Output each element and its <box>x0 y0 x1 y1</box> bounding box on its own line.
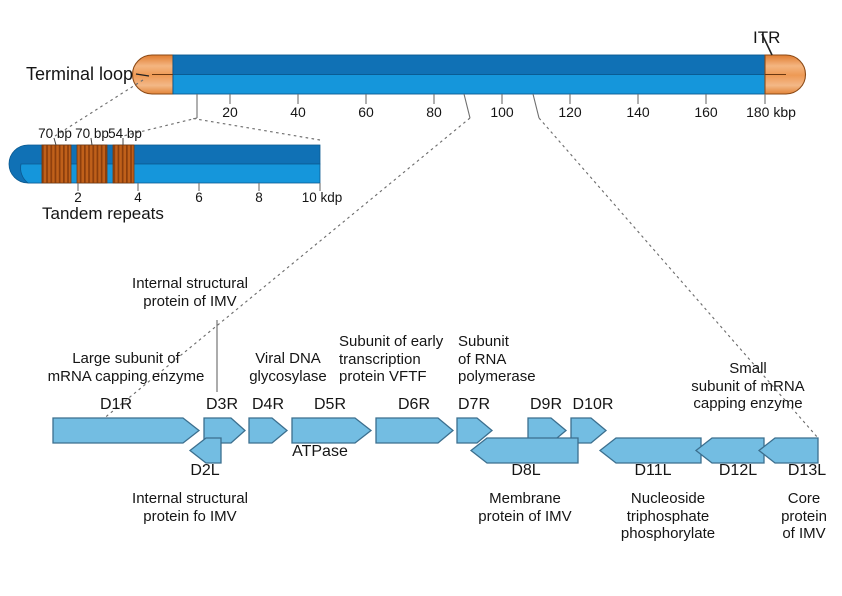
itr-label: ITR <box>753 28 780 48</box>
annotation-d4r: Viral DNA glycosylase <box>233 350 343 385</box>
gene-label-D6R: D6R <box>386 396 442 415</box>
gene-arrow-D6R[interactable] <box>376 418 453 443</box>
genome-tick-label-60: 60 <box>346 104 386 121</box>
genome-tick-label-180: 180 kbp <box>736 104 806 121</box>
annotation-d8l: Membrane protein of IMV <box>455 490 595 525</box>
gene-label-D10R: D10R <box>562 396 624 415</box>
gene-label-D12L: D12L <box>705 462 771 481</box>
gene-arrow-D4R[interactable] <box>249 418 287 443</box>
repeat-block-label-3: 54 bp <box>99 126 151 142</box>
annotation-d13l-core-protein: Core protein of IMV <box>768 490 840 543</box>
figure-root: Terminal loop ITR 20 40 60 80 100 120 14… <box>0 0 842 596</box>
genome-tick-label-40: 40 <box>278 104 318 121</box>
annotation-d13l-small-subunit: Small subunit of mRNA capping enzyme <box>668 360 828 413</box>
gene-arrow-D12L[interactable] <box>696 438 764 463</box>
gene-arrow-D1R[interactable] <box>53 418 199 443</box>
genome-tick-label-20: 20 <box>210 104 250 121</box>
gene-arrow-D13L[interactable] <box>759 438 818 463</box>
genome-body-top <box>173 55 765 75</box>
annotation-d2l: Internal structural protein fo IMV <box>100 490 280 525</box>
repeat-tick-label-10: 10 kdp <box>291 190 353 206</box>
annotation-d7r: Subunit of RNA polymerase <box>458 333 558 386</box>
tandem-repeat-bar <box>9 145 320 183</box>
genome-tick-label-120: 120 <box>550 104 590 121</box>
gene-label-D2L: D2L <box>175 462 235 481</box>
gene-arrow-D8L[interactable] <box>471 438 578 463</box>
gene-label-D11L: D11L <box>620 462 686 481</box>
gene-label-D13L: D13L <box>774 462 840 481</box>
genome-tick-label-100: 100 <box>482 104 522 121</box>
gene-label-D7R: D7R <box>446 396 502 415</box>
annotation-d3r: Internal structural protein of IMV <box>105 275 275 310</box>
genome-tick-label-140: 140 <box>618 104 658 121</box>
gene-arrow-D5R[interactable] <box>292 418 371 443</box>
repeat-tick-label-6: 6 <box>179 190 219 206</box>
genome-tick-label-80: 80 <box>414 104 454 121</box>
tandem-repeats-caption: Tandem repeats <box>42 204 164 224</box>
repeat-block-3 <box>113 145 134 183</box>
repeat-block-2 <box>77 145 107 183</box>
annotation-d11l: Nucleoside triphosphate phosphorylate <box>598 490 738 543</box>
genome-body-bottom <box>173 75 765 95</box>
leader-repeats-to-genome-right <box>190 118 320 140</box>
gene-arrow-D11L[interactable] <box>600 438 701 463</box>
gene-label-D4R: D4R <box>240 396 296 415</box>
annotation-d5r-d6r: Subunit of early transcription protein V… <box>339 333 469 386</box>
genome-bar <box>133 55 806 94</box>
gene-label-D8L: D8L <box>496 462 556 481</box>
terminal-loop-label: Terminal loop <box>26 64 133 85</box>
gene-arrow-D2L[interactable] <box>190 438 221 463</box>
gene-label-D5R: D5R <box>302 396 358 415</box>
genome-tick-label-160: 160 <box>686 104 726 121</box>
repeat-block-1 <box>42 145 71 183</box>
annotation-atpase: ATPase <box>275 443 365 462</box>
repeat-tick-label-8: 8 <box>239 190 279 206</box>
gene-label-D1R: D1R <box>86 396 146 415</box>
annotation-d1r: Large subunit of mRNA capping enzyme <box>36 350 216 385</box>
